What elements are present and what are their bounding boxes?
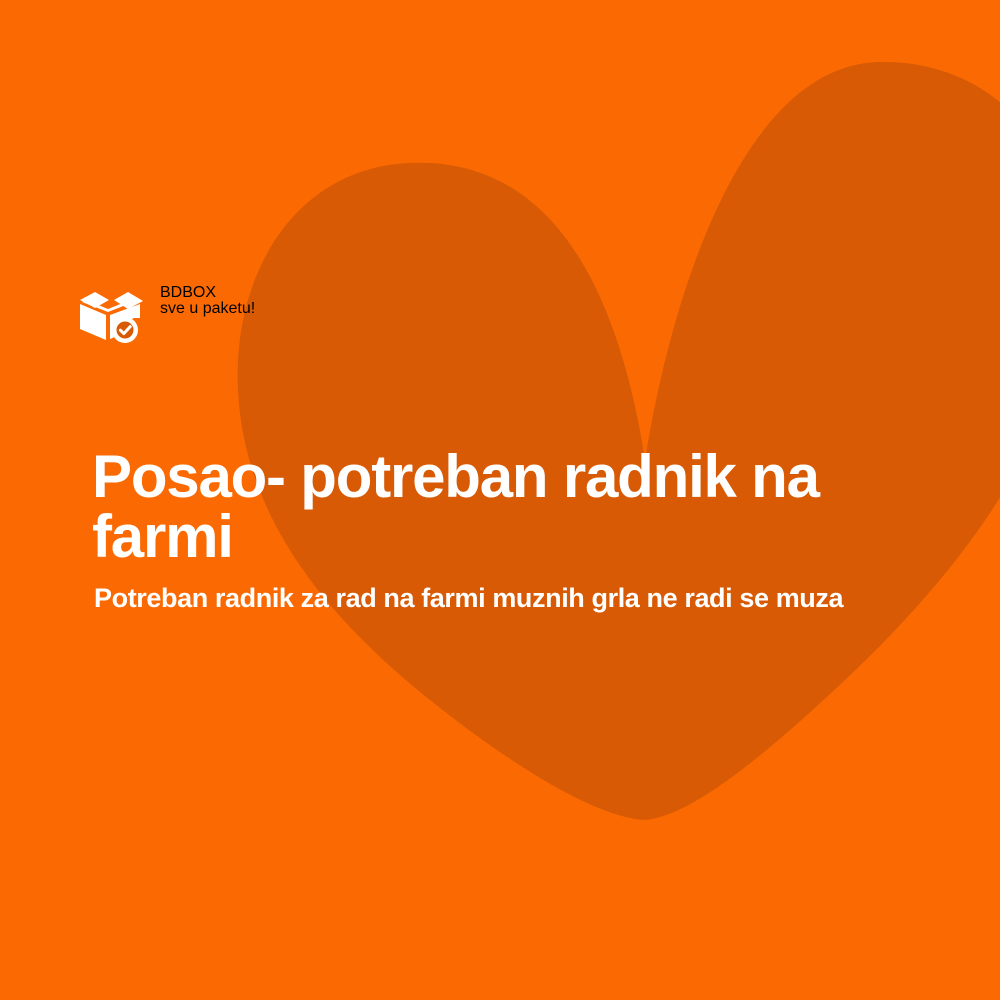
open-box-with-check-icon <box>78 288 146 344</box>
poster-canvas: BDBOX sve u paketu! Posao- potreban radn… <box>0 0 1000 1000</box>
page-title: Posao- potreban radnik na farmi <box>92 447 882 567</box>
brand-tagline: sve u paketu! <box>160 301 255 317</box>
brand-text-block: BDBOX sve u paketu! <box>160 285 255 317</box>
brand-logo: BDBOX sve u paketu! <box>78 285 255 344</box>
brand-wordmark: BDBOX <box>160 285 255 301</box>
page-subtitle: Potreban radnik za rad na farmi muznih g… <box>94 582 954 614</box>
